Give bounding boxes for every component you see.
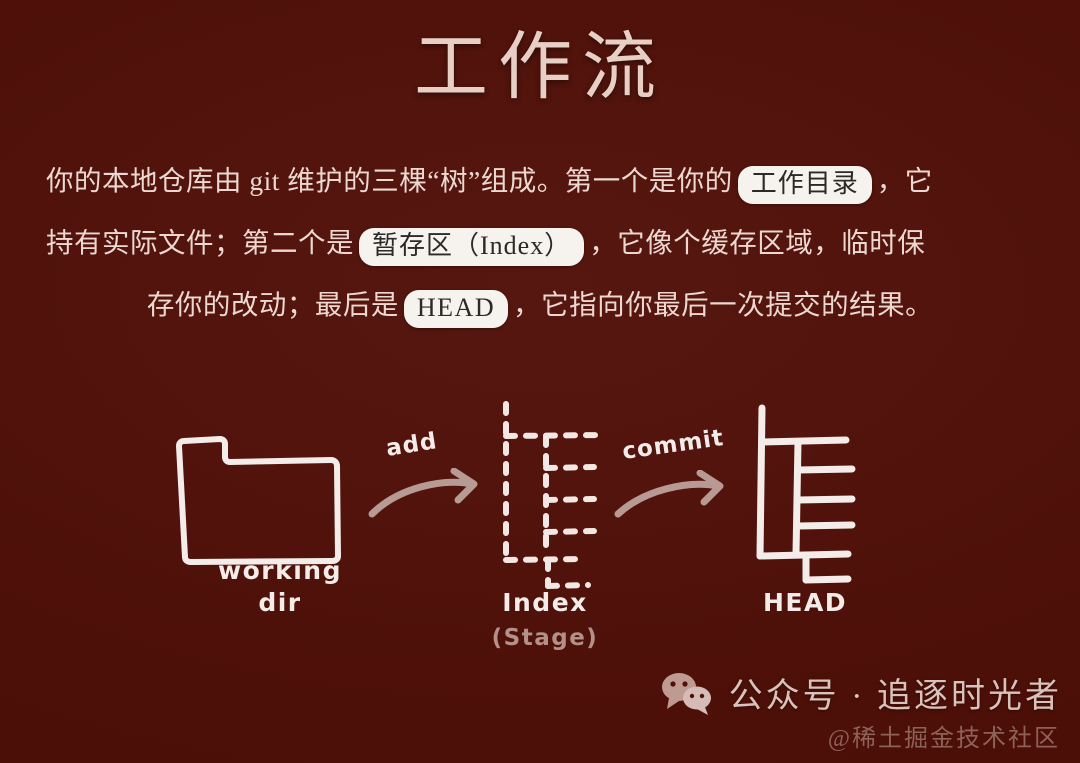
chip-index: 暂存区（Index） [359,228,584,266]
description-paragraph: 你的本地仓库由 git 维护的三棵“树”组成。第一个是你的工作目录，它 持有实际… [46,150,1034,336]
curved-arrow-right-icon-add [368,468,493,528]
paragraph-line-1: 你的本地仓库由 git 维护的三棵“树”组成。第一个是你的工作目录，它 [46,150,1034,212]
head-label: HEAD [715,588,895,617]
chip-head: HEAD [404,290,508,328]
working-dir-label-line2: dir [258,588,301,617]
paragraph-line-3-text-b: ，它指向你最后一次提交的结果。 [513,289,933,320]
working-dir-label-line1: working [218,556,342,585]
arrow-add-label: add [384,428,439,462]
paragraph-line-2-text-a: 持有实际文件；第二个是 [46,227,354,258]
dashed-file-tree-icon [490,400,610,590]
index-label: Index [460,588,630,617]
page-title: 工作流 [0,28,1080,109]
paragraph-line-3-text-a: 存你的改动；最后是 [147,289,399,320]
wechat-icon [659,671,715,715]
paragraph-line-2: 持有实际文件；第二个是暂存区（Index），它像个缓存区域，临时保 [46,212,1034,274]
curved-arrow-right-icon-commit [614,470,739,530]
watermark: 公众号 · 追逐时光者 [659,668,1062,717]
chip-working-directory: 工作目录 [738,166,872,204]
paragraph-line-1-text-b: ，它 [877,165,933,196]
watermark-text: 公众号 · 追逐时光者 [729,668,1062,717]
file-tree-icon [748,404,868,584]
paragraph-line-1-text-a: 你的本地仓库由 git 维护的三棵“树”组成。第一个是你的 [46,165,733,196]
paragraph-line-3: 存你的改动；最后是HEAD，它指向你最后一次提交的结果。 [46,274,1034,336]
folder-outline-icon [165,410,365,570]
watermark-subtext: @稀土掘金技术社区 [828,718,1060,753]
arrow-commit-label: commit [621,425,726,465]
working-dir-label: working dir [180,555,380,619]
paragraph-line-2-text-b: ，它像个缓存区域，临时保 [589,227,925,258]
index-sublabel: (Stage) [460,625,630,651]
slide-background: 工作流 你的本地仓库由 git 维护的三棵“树”组成。第一个是你的工作目录，它 … [0,0,1080,763]
workflow-diagram: working dir add Index (Stage) [0,390,1080,680]
